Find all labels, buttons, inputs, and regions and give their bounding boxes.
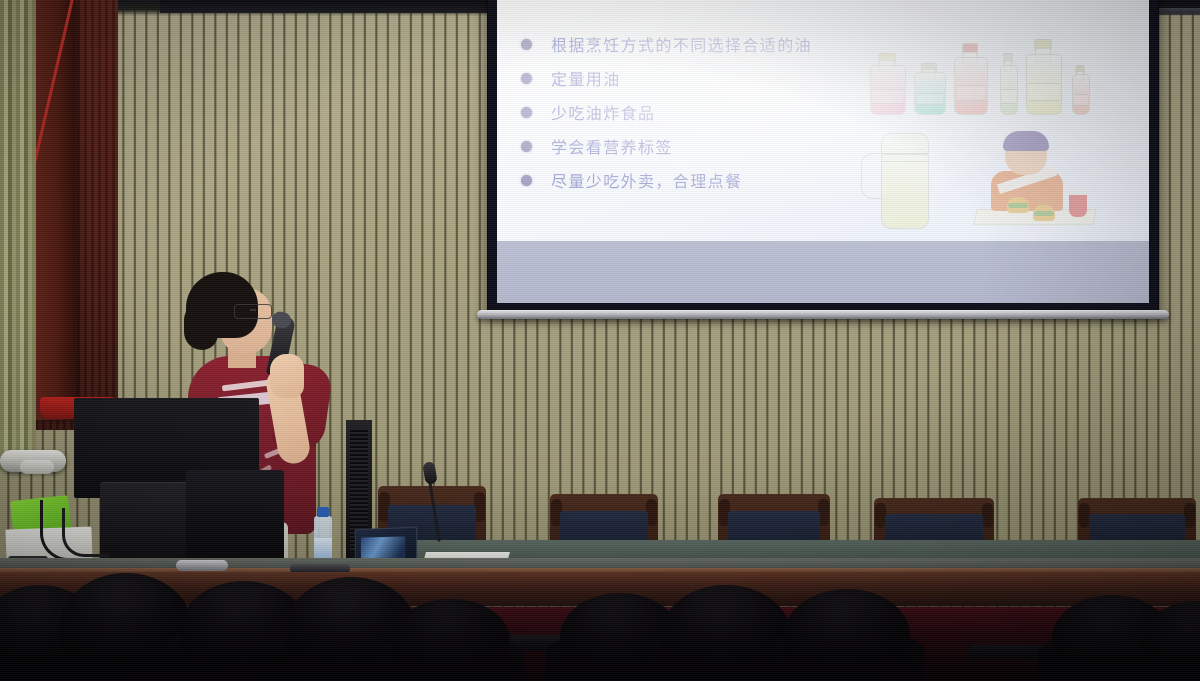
bottle-label xyxy=(314,538,332,560)
list-item: 少吃油炸食品 xyxy=(521,95,901,129)
bottle-body xyxy=(954,57,988,115)
drink-cup-icon xyxy=(1069,193,1087,217)
bottle-label xyxy=(1029,83,1059,100)
screen-weight-bar xyxy=(477,310,1169,319)
cable xyxy=(62,508,109,557)
thermos-cap xyxy=(881,133,929,155)
bullet-dot-icon xyxy=(521,107,532,118)
bottle-yellow-jug xyxy=(1026,39,1060,115)
bottle-red-jug xyxy=(954,43,986,115)
slide-bullet-list: 根据烹饪方式的不同选择合适的油 定量用油 少吃油炸食品 学会看营养标签 尽量少吃… xyxy=(521,27,901,197)
bottle-teal-jug xyxy=(914,63,944,115)
bullet-dot-icon xyxy=(521,73,532,84)
oil-bottles-illustration xyxy=(862,7,1112,115)
bullet-text: 定量用油 xyxy=(551,66,621,90)
bottle-label xyxy=(957,85,985,102)
burger-icon xyxy=(1033,205,1055,221)
bullet-text: 根据烹饪方式的不同选择合适的油 xyxy=(551,32,812,56)
bottle-body xyxy=(870,65,906,115)
chair-post xyxy=(1184,503,1195,528)
bullet-dot-icon xyxy=(521,39,532,50)
bottle-body xyxy=(1072,74,1090,115)
bullet-text: 尽量少吃外卖，合理点餐 xyxy=(551,168,742,192)
thermos-ring xyxy=(881,153,927,162)
bottle-label xyxy=(917,93,943,106)
list-item: 定量用油 xyxy=(521,61,901,95)
glasses-icon xyxy=(234,304,272,319)
bottle-pink-jug xyxy=(870,53,904,115)
monitor-secondary xyxy=(186,470,284,566)
lecture-hall-screenshot: 根据烹饪方式的不同选择合适的油 定量用油 少吃油炸食品 学会看营养标签 尽量少吃… xyxy=(0,0,1200,681)
boy-hair xyxy=(1003,131,1049,151)
lower-illustrations xyxy=(857,127,1117,247)
projection-screen: 根据烹饪方式的不同选择合适的油 定量用油 少吃油炸食品 学会看营养标签 尽量少吃… xyxy=(487,0,1159,314)
stage-curtain xyxy=(0,0,36,470)
presenter-hair-side xyxy=(184,302,218,350)
rolled-banner-inner xyxy=(20,460,54,474)
presenter-hand xyxy=(270,354,304,398)
slide-surface: 根据烹饪方式的不同选择合适的油 定量用油 少吃油炸食品 学会看营养标签 尽量少吃… xyxy=(497,0,1149,303)
list-item: 根据烹饪方式的不同选择合适的油 xyxy=(521,27,901,61)
bottle-slim-green xyxy=(1000,53,1016,115)
bottle-label xyxy=(873,89,903,103)
list-item: 尽量少吃外卖，合理点餐 xyxy=(521,163,901,197)
list-item: 学会看营养标签 xyxy=(521,129,901,163)
bottle-label xyxy=(1002,89,1016,103)
bullet-dot-icon xyxy=(521,141,532,152)
burger-icon xyxy=(1007,197,1029,213)
bottle-body xyxy=(1026,54,1062,115)
slide-footer-band xyxy=(497,241,1149,303)
bullet-dot-icon xyxy=(521,175,532,186)
bottle-body xyxy=(914,72,946,115)
bottle-body xyxy=(1000,65,1018,115)
chair-post xyxy=(982,503,993,528)
bullet-text: 学会看营养标签 xyxy=(551,134,673,158)
foreground-shadow xyxy=(0,561,1200,681)
bottle-red-sauce xyxy=(1072,65,1088,115)
bottle-label xyxy=(1074,94,1088,106)
bullet-text: 少吃油炸食品 xyxy=(551,100,655,124)
